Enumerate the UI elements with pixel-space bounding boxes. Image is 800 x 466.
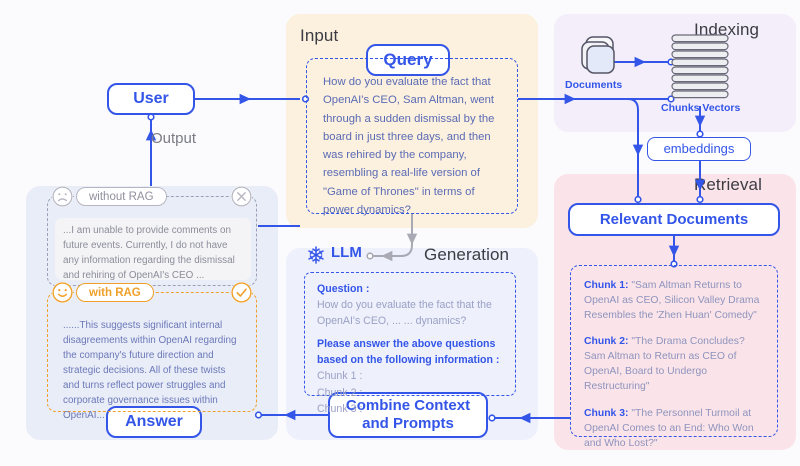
node-relevant-documents[interactable]: Relevant Documents (568, 203, 780, 236)
card-with-rag: with RAG ......This suggests significant… (47, 292, 257, 412)
chunks-vectors-label: Chunks Vectors (661, 102, 740, 114)
chunk-item: Chunk 1: "Sam Altman Returns to OpenAI a… (584, 278, 764, 323)
without-rag-text: ...I am unable to provide comments on fu… (55, 218, 251, 280)
output-flow-label: Output (151, 130, 196, 147)
diagram-canvas: Input Indexing Retrieval Generation (0, 0, 800, 466)
combine-line-2: and Prompts (346, 415, 470, 433)
node-embeddings[interactable]: embeddings (647, 137, 751, 161)
happy-face-icon (52, 282, 73, 303)
prompt-question-text: How do you evaluate the fact that the Op… (317, 298, 503, 330)
with-rag-text: ......This suggests significant internal… (55, 314, 251, 406)
prompt-chunk-line-2: Chunk 2 : (317, 385, 503, 401)
snowflake-icon (306, 245, 326, 265)
query-text: How do you evaluate the fact that OpenAI… (323, 73, 501, 219)
without-rag-pill: without RAG (76, 187, 167, 206)
x-mark-icon (231, 186, 252, 207)
section-label-generation: Generation (424, 245, 509, 265)
prompt-chunk-line-3: Chunk 3 : (317, 401, 503, 417)
section-label-retrieval: Retrieval (694, 175, 762, 195)
prompt-chunk-line-1: Chunk 1 : (317, 368, 503, 384)
chunks-stack-icon (668, 34, 732, 100)
chunk-label: Chunk 2: (584, 336, 631, 347)
prompt-instruction: Please answer the above questions based … (317, 337, 503, 369)
with-rag-pill: with RAG (76, 283, 154, 302)
documents-label: Documents (565, 79, 622, 91)
node-user[interactable]: User (107, 83, 195, 115)
llm-label: LLM (331, 244, 362, 261)
retrieved-chunks-box: Chunk 1: "Sam Altman Returns to OpenAI a… (570, 265, 778, 437)
chunk-label: Chunk 3: (584, 408, 631, 419)
chunk-item: Chunk 2: "The Drama Concludes? Sam Altma… (584, 334, 764, 394)
prompt-template-box: Question : How do you evaluate the fact … (304, 272, 516, 396)
chunk-item: Chunk 3: "The Personnel Turmoil at OpenA… (584, 406, 764, 451)
sad-face-icon (52, 186, 73, 207)
documents-stack-icon (578, 34, 624, 78)
chunk-label: Chunk 1: (584, 280, 631, 291)
prompt-question-label: Question : (317, 282, 503, 298)
query-text-box: How do you evaluate the fact that OpenAI… (306, 58, 518, 214)
section-label-input: Input (300, 26, 338, 46)
check-mark-icon (231, 282, 252, 303)
card-without-rag: without RAG ...I am unable to provide co… (47, 196, 257, 286)
